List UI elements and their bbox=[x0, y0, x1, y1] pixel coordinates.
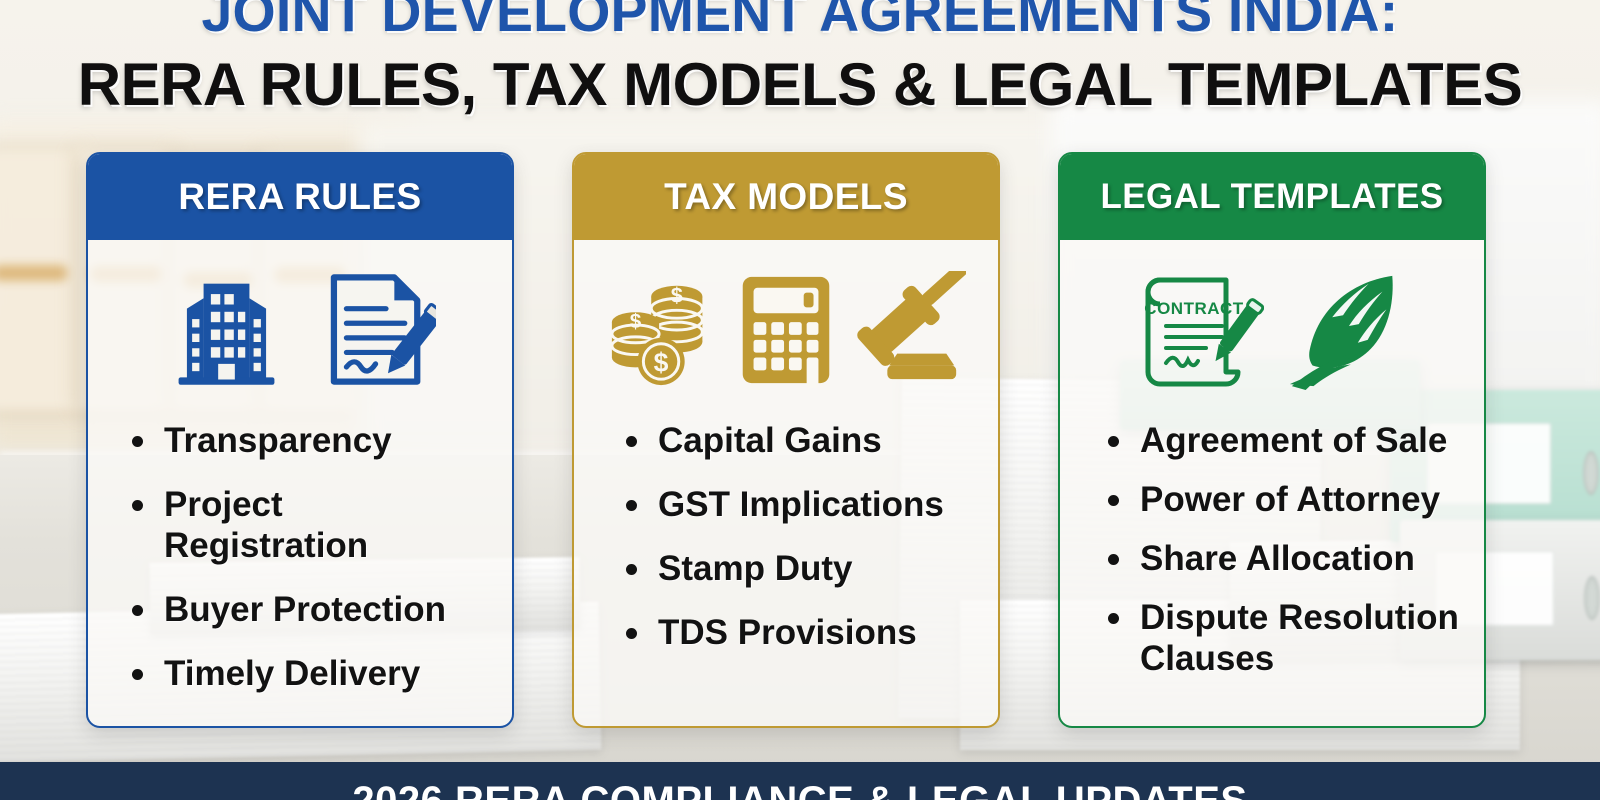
card-icons-tax-models: $ $ bbox=[574, 240, 998, 416]
bottom-banner-text: 2026 RERA COMPLIANCE & LEGAL UPDATES bbox=[352, 778, 1247, 800]
card-legal-templates[interactable]: LEGAL TEMPLATES CONTRACT bbox=[1058, 152, 1486, 728]
list-item: Power of Attorney bbox=[1108, 479, 1464, 520]
bottom-banner: 2026 RERA COMPLIANCE & LEGAL UPDATES bbox=[0, 762, 1600, 800]
card-header-legal-templates: LEGAL TEMPLATES bbox=[1060, 154, 1484, 240]
contract-scroll-pen-icon: CONTRACT bbox=[1134, 266, 1264, 399]
card-rera-rules[interactable]: RERA RULES bbox=[86, 152, 514, 728]
calculator-icon bbox=[734, 271, 838, 394]
coin-stack-icon: $ $ bbox=[606, 271, 724, 394]
card-title-rera-rules: RERA RULES bbox=[178, 176, 421, 218]
card-tax-models[interactable]: TAX MODELS bbox=[572, 152, 1000, 728]
building-icon bbox=[164, 267, 289, 397]
list-item: Buyer Protection bbox=[132, 589, 492, 630]
list-item: Share Allocation bbox=[1108, 538, 1464, 579]
document-signing-icon bbox=[311, 267, 436, 397]
card-list-rera-rules: Transparency Project Registration Buyer … bbox=[88, 416, 512, 726]
gavel-icon bbox=[848, 271, 966, 394]
list-item: Capital Gains bbox=[626, 420, 978, 461]
card-icons-legal-templates: CONTRACT bbox=[1060, 240, 1484, 416]
list-item: Agreement of Sale bbox=[1108, 420, 1464, 461]
list-item: Timely Delivery bbox=[132, 653, 492, 694]
card-icons-rera-rules bbox=[88, 240, 512, 416]
svg-text:$: $ bbox=[671, 282, 683, 307]
list-item: Transparency bbox=[132, 420, 492, 461]
card-list-tax-models: Capital Gains GST Implications Stamp Dut… bbox=[574, 416, 998, 726]
cards-container: RERA RULES bbox=[0, 152, 1600, 727]
infographic-root: JOINT DEVELOPMENT AGREEMENTS INDIA: RERA… bbox=[0, 0, 1600, 800]
list-item: TDS Provisions bbox=[626, 612, 978, 653]
card-list-legal-templates: Agreement of Sale Power of Attorney Shar… bbox=[1060, 416, 1484, 726]
list-item: GST Implications bbox=[626, 484, 978, 525]
card-header-tax-models: TAX MODELS bbox=[574, 154, 998, 240]
card-title-legal-templates: LEGAL TEMPLATES bbox=[1100, 177, 1443, 217]
svg-text:$: $ bbox=[654, 347, 669, 377]
list-item: Project Registration bbox=[132, 484, 492, 566]
card-title-tax-models: TAX MODELS bbox=[664, 176, 908, 218]
card-header-rera-rules: RERA RULES bbox=[88, 154, 512, 240]
svg-text:$: $ bbox=[630, 310, 642, 333]
feather-quill-icon bbox=[1282, 266, 1410, 399]
list-item: Stamp Duty bbox=[626, 548, 978, 589]
list-item: Dispute Resolution Clauses bbox=[1108, 597, 1464, 679]
contract-icon-label: CONTRACT bbox=[1144, 299, 1243, 318]
